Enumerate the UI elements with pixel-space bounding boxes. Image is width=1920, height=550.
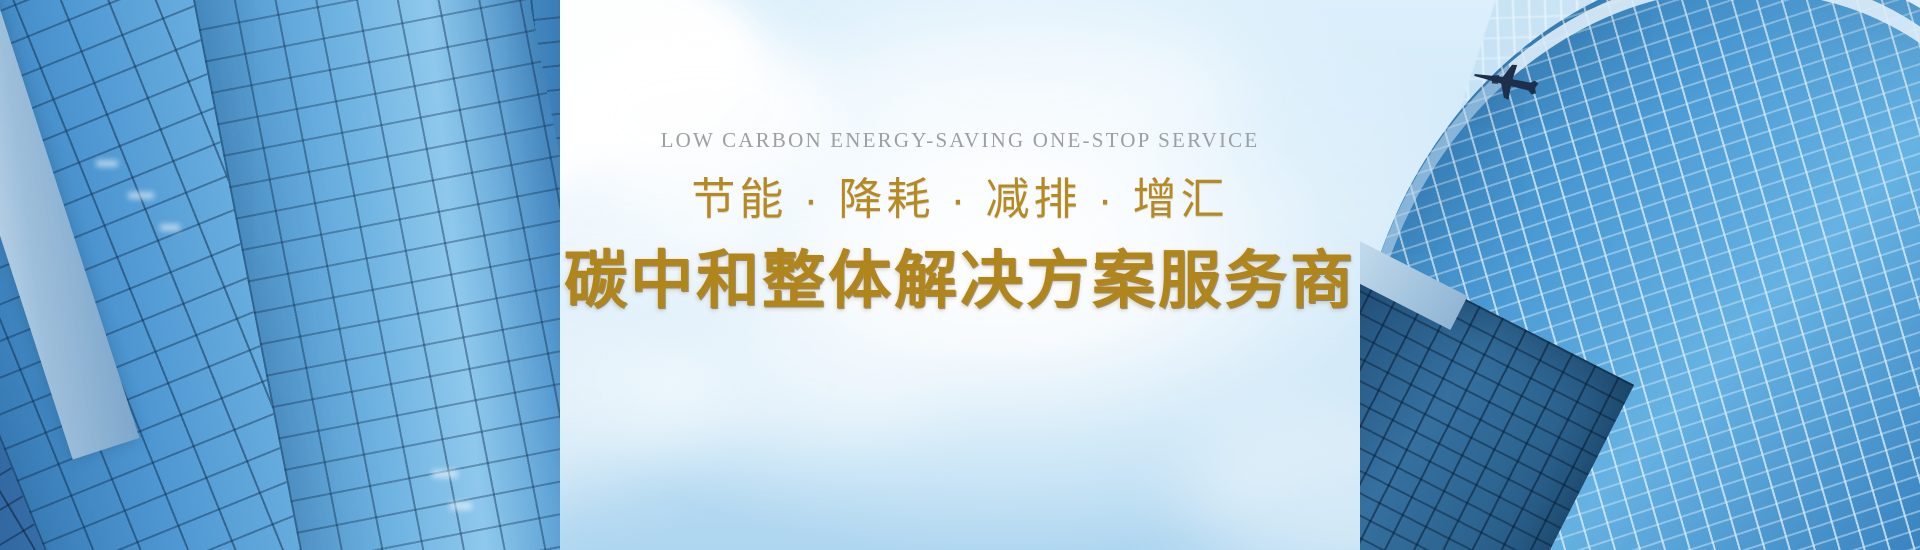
airplane-icon <box>1468 52 1546 110</box>
window-glare <box>96 160 118 167</box>
window-glare <box>450 502 472 510</box>
banner-headline: 碳中和整体解决方案服务商 <box>564 246 1356 317</box>
right-building-cluster <box>1360 0 1920 550</box>
left-building-cluster <box>0 0 560 550</box>
window-glare <box>128 192 154 199</box>
hero-banner: LOW CARBON ENERGY-SAVING ONE-STOP SERVIC… <box>0 0 1920 550</box>
banner-subtitle: 节能 · 降耗 · 减排 · 增汇 <box>691 176 1228 224</box>
cloud <box>820 20 1240 170</box>
banner-eyebrow: LOW CARBON ENERGY-SAVING ONE-STOP SERVIC… <box>661 130 1260 151</box>
cloud <box>560 30 840 200</box>
window-glare <box>432 470 458 478</box>
cloud <box>640 330 940 450</box>
window-glare <box>160 224 180 231</box>
